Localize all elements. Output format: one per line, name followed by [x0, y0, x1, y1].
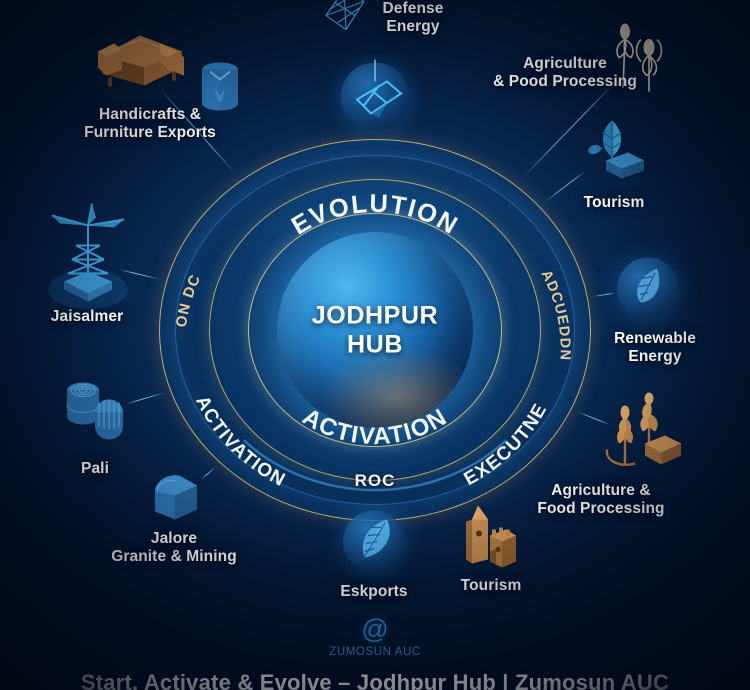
node-label-tourism-bottom: Tourism	[461, 577, 522, 595]
node-label-jaisalmer: Jaisalmer	[51, 308, 123, 326]
granite-block-icon	[145, 468, 207, 533]
hub-title: JODHPUR HUB	[265, 302, 485, 359]
ring-label-roc: ROC	[355, 471, 396, 491]
leaf-disc-icon	[617, 255, 679, 322]
wheat-crate-icon	[595, 392, 685, 483]
ring-label-ondc: ON DC	[173, 272, 204, 329]
ring-label-adcueddn: ADCUEDDN	[538, 268, 573, 362]
sofa-icon	[88, 26, 192, 105]
ring-label-executne: EXECUTNE	[461, 400, 552, 490]
feather-leaf-disc-icon	[343, 508, 405, 575]
node-label-eskports: Eskports	[340, 583, 407, 601]
wireframe-panel-icon	[322, 0, 368, 45]
at-icon: @	[329, 616, 421, 643]
node-label-agriculture-food-processing-bottom: Agriculture & Food Processing	[537, 482, 664, 519]
fabric-rolls-icon	[59, 377, 131, 448]
brand-name: ZUMOSUN AUC	[329, 646, 421, 658]
ring-label-evolution: EVOLUTION	[287, 190, 463, 241]
node-label-tourism-top: Tourism	[584, 194, 645, 212]
node-label-jalore: Jalore Granite & Mining	[111, 530, 237, 567]
leaf-crate-icon	[572, 109, 652, 192]
fort-icon	[454, 490, 526, 577]
node-label-pali: Pali	[81, 460, 109, 478]
node-label-defense-energy: Defense Energy	[382, 0, 443, 37]
node-label-agriculture-food-processing-top: Agriculture & Pood Processing	[493, 55, 637, 92]
node-label-handicrafts: Handicrafts & Furniture Exports	[84, 106, 216, 143]
brand-block: @ ZUMOSUN AUC	[329, 616, 421, 658]
ring-label-activation-inner: ACTIVATION	[298, 403, 452, 450]
footer-title: Start, Activate & Evolve – Jodhpur Hub |…	[81, 670, 669, 690]
node-label-renewable-energy: Renewable Energy	[614, 330, 696, 367]
infographic-canvas: EVOLUTION ACTIVATION ON DC ADCUEDDN ACTI…	[0, 0, 750, 690]
wind-turbine-icon	[40, 202, 136, 323]
solar-panel-icon	[331, 48, 419, 145]
